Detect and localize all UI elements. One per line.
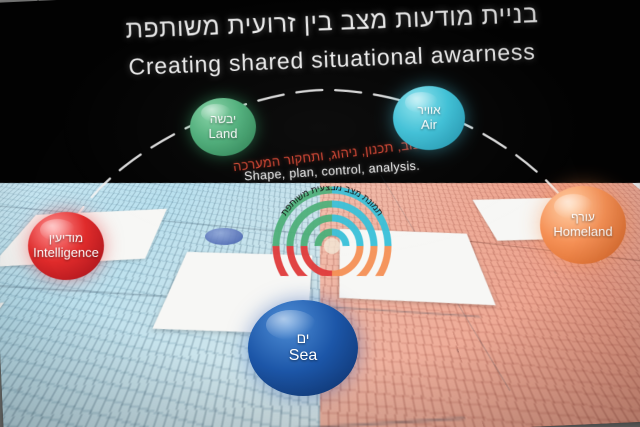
node-sea[interactable]: ים Sea [248,300,358,396]
slide-content: תמונת מצב מבצעית משותפת Joint operationa… [0,0,640,427]
projection-slide: תמונת מצב מבצעית משותפת Joint operationa… [0,0,640,427]
joint-picture-hebrew: תמונת מצב מבצעית משותפת [279,186,385,218]
node-intelligence-hebrew: מודיעין [49,232,83,245]
node-land-hebrew: יבשה [210,113,236,126]
svg-text:תמונת מצב מבצעית משותפת: תמונת מצב מבצעית משותפת [279,186,385,218]
joint-picture-labels: תמונת מצב מבצעית משותפת Joint operationa… [268,186,396,276]
node-air-hebrew: אוויר [417,104,440,117]
node-homeland[interactable]: עורף Homeland [540,186,626,264]
node-homeland-english: Homeland [553,225,612,239]
node-intelligence-english: Intelligence [33,246,99,260]
node-air-english: Air [421,118,437,132]
node-homeland-hebrew: עורף [571,211,595,224]
node-sea-english: Sea [289,347,317,364]
node-sea-hebrew: ים [297,331,310,346]
node-land[interactable]: יבשה Land [190,98,256,156]
screenshot-root: תמונת מצב מבצעית משותפת Joint operationa… [0,0,640,427]
node-air[interactable]: אוויר Air [393,86,465,150]
node-land-english: Land [209,127,238,141]
node-intelligence[interactable]: מודיעין Intelligence [28,212,104,280]
joint-operational-picture: תמונת מצב מבצעית משותפת Joint operationa… [268,186,396,276]
